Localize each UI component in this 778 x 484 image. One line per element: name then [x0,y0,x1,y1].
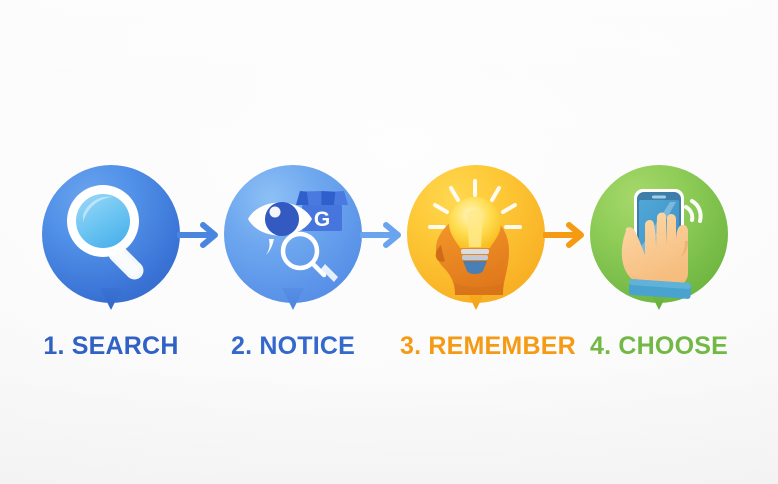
infographic-canvas: 1. SEARCH [0,0,778,484]
step-choose-label-text: 4. CHOOSE [590,332,728,360]
step-choose-label: 4. CHOOSE [583,332,735,361]
step-remember-label-text: 3. REMEMBER [400,332,576,360]
step-choose[interactable]: 4. CHOOSE [583,160,735,360]
process-flow: 1. SEARCH [0,0,778,484]
magnifier-icon [42,165,180,303]
small-magnifier-icon [283,234,324,275]
step-choose-bubble [583,160,735,312]
signal-waves-icon [686,201,701,221]
eye-storefront-icon: G [224,165,362,303]
step-search[interactable]: 1. SEARCH [35,160,187,360]
hand-smartphone-icon [590,165,728,303]
step-remember-label: 3. REMEMBER [400,332,552,361]
step-notice-label: 2. NOTICE [217,332,369,361]
step-notice[interactable]: G [217,160,369,360]
step-notice-bubble: G [217,160,369,312]
step-search-bubble [35,160,187,312]
head-lightbulb-icon [407,165,545,303]
step-remember[interactable]: 3. REMEMBER [400,160,552,360]
svg-text:G: G [314,208,330,231]
step-notice-label-text: 2. NOTICE [231,332,355,360]
step-search-label: 1. SEARCH [35,332,187,361]
step-remember-bubble [400,160,552,312]
eye-icon [248,202,312,255]
step-search-label-text: 1. SEARCH [43,332,178,360]
